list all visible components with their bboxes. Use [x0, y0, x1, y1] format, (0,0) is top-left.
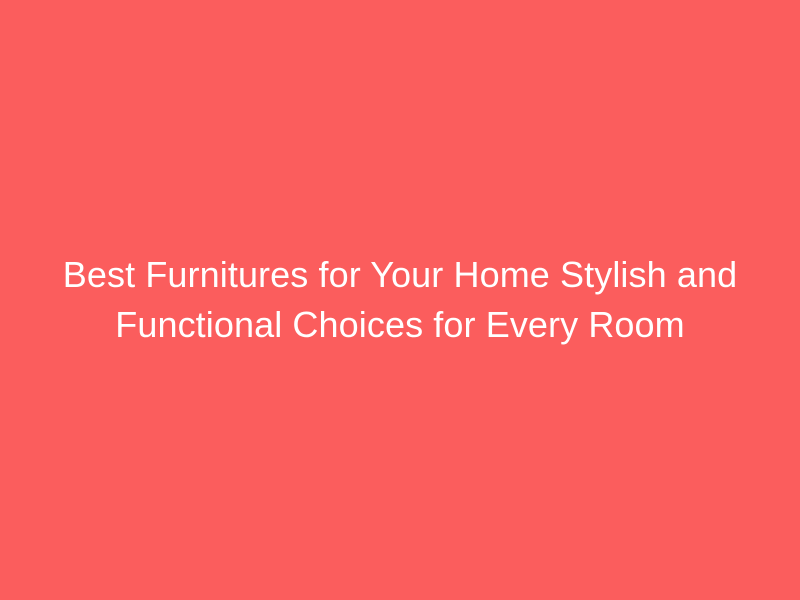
- banner-title: Best Furnitures for Your Home Stylish an…: [60, 250, 740, 350]
- article-banner: Best Furnitures for Your Home Stylish an…: [0, 0, 800, 600]
- banner-content: Best Furnitures for Your Home Stylish an…: [60, 250, 740, 350]
